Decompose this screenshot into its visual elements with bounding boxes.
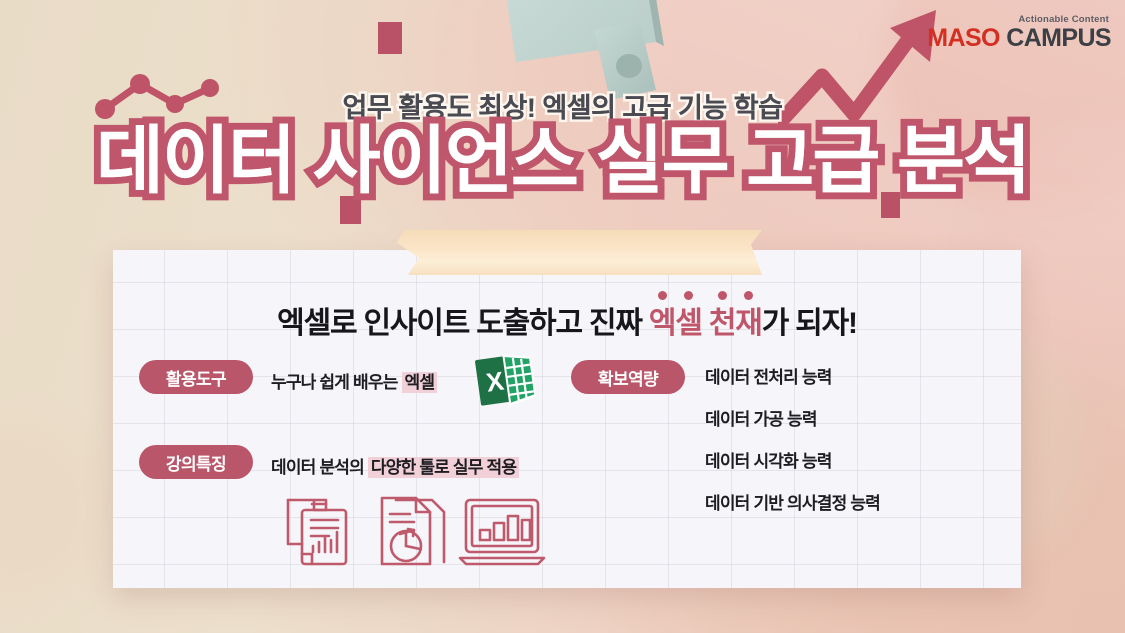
- emphasis-dot: [744, 291, 753, 300]
- list-item: 데이터 시각화 능력: [705, 447, 880, 472]
- emphasis-dot: [718, 291, 727, 300]
- washi-tape-decoration: [397, 230, 762, 275]
- emphasis-dot: [684, 291, 693, 300]
- report-documents-icon: [288, 500, 346, 564]
- card-headline: 엑셀로 인사이트 도출하고 진짜 엑셀 천재가 되자!: [113, 298, 1021, 342]
- laptop-bar-chart-icon: [460, 500, 544, 564]
- brand-name-secondary: CAMPUS: [1006, 24, 1111, 52]
- content-card: 엑셀로 인사이트 도출하고 진짜 엑셀 천재가 되자! 활용도구 누구나 쉽게 …: [113, 250, 1021, 588]
- headline-suffix: 가 되자!: [762, 307, 857, 340]
- feature-icon-strip: [282, 490, 547, 577]
- list-item: 데이터 전처리 능력: [705, 363, 880, 388]
- headline-prefix: 엑셀로 인사이트 도출하고 진짜: [277, 307, 649, 340]
- feature-text-highlight: 다양한 툴로 실무 적용: [368, 457, 519, 478]
- feature-description: 데이터 분석의 다양한 툴로 실무 적용: [271, 453, 519, 478]
- list-item: 데이터 가공 능력: [705, 405, 880, 430]
- page-title: 데이터 사이언스 실무 고급 분석 데이터 사이언스 실무 고급 분석: [0, 124, 1125, 198]
- headline-emphasis: 엑셀 천재: [649, 307, 762, 340]
- tools-description: 누구나 쉽게 배우는 엑셀: [271, 368, 437, 393]
- pie-chart-document-icon: [382, 498, 444, 564]
- excel-icon: X: [474, 350, 540, 417]
- feature-text-plain: 데이터 분석의: [271, 458, 368, 477]
- sparkle-decoration: [378, 22, 402, 54]
- badge-skills: 확보역량: [571, 360, 685, 394]
- hero-title: 데이터 사이언스 실무 고급 분석: [0, 124, 1125, 198]
- tools-text-plain: 누구나 쉽게 배우는: [271, 373, 402, 392]
- list-item: 데이터 기반 의사결정 능력: [705, 489, 880, 514]
- badge-tools: 활용도구: [139, 360, 253, 394]
- brand-name-primary: MASO: [927, 24, 1000, 52]
- tools-text-highlight: 엑셀: [402, 372, 438, 393]
- brand-logo: Actionable Content MASO CAMPUS: [927, 14, 1111, 51]
- skills-list: 데이터 전처리 능력 데이터 가공 능력 데이터 시각화 능력 데이터 기반 의…: [705, 363, 880, 531]
- badge-feature: 강의특징: [139, 445, 253, 479]
- emphasis-dot: [658, 291, 667, 300]
- brand-name: MASO CAMPUS: [927, 26, 1111, 51]
